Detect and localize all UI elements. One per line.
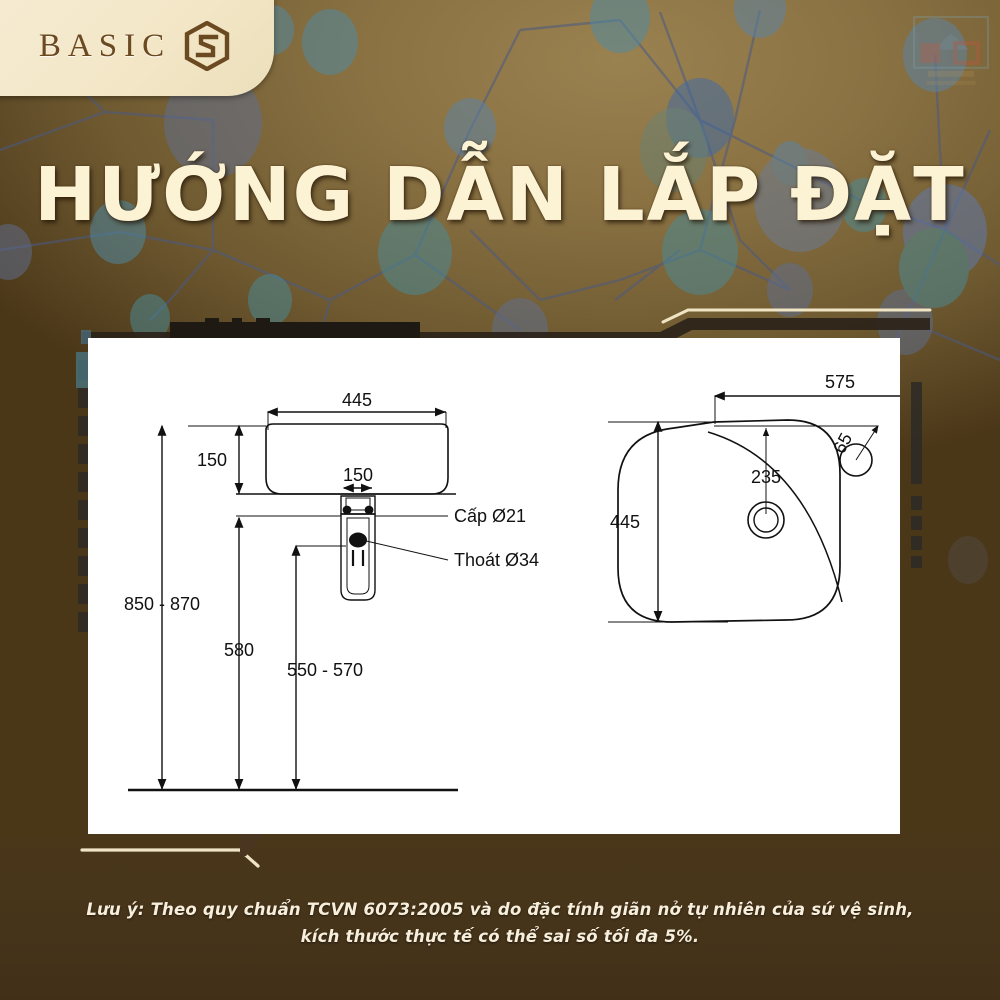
basic-s-hexagon-logo-icon xyxy=(183,21,231,71)
dim-trap-height-580: 580 xyxy=(224,640,254,660)
dim-overflow-offset-65: 65 xyxy=(829,430,856,457)
technical-drawing-panel: 445 150 150 850 - 870 580 550 - 570 Cấp … xyxy=(88,338,900,834)
label-supply-cap-21: Cấp Ø21 xyxy=(454,506,526,526)
dim-total-height-850-870: 850 - 870 xyxy=(124,594,200,614)
page-title: HƯỚNG DẪN LẮP ĐẶT xyxy=(0,152,1000,238)
technical-drawings-svg: 445 150 150 850 - 870 580 550 - 570 Cấp … xyxy=(88,338,900,834)
footer-note-line2: kích thước thực tế có thể sai số tối đa … xyxy=(0,923,1000,950)
dim-basin-height-150: 150 xyxy=(197,450,227,470)
brand-name: BASIC xyxy=(39,28,171,65)
dim-supply-height-550-570: 550 - 570 xyxy=(287,660,363,680)
company-logo-watermark-icon xyxy=(910,12,992,94)
dim-basin-width-445-top: 445 xyxy=(610,512,640,532)
footer-note: Lưu ý: Theo quy chuẩn TCVN 6073:2005 và … xyxy=(0,896,1000,950)
installation-guide-poster: BASIC HƯỚNG DẪN LẮP ĐẶT xyxy=(0,0,1000,1000)
footer-note-line1: Lưu ý: Theo quy chuẩn TCVN 6073:2005 và … xyxy=(0,896,1000,923)
dim-basin-width-445: 445 xyxy=(342,390,372,410)
dim-pipe-spacing-150: 150 xyxy=(343,465,373,485)
label-drain-thoat-34: Thoát Ø34 xyxy=(454,550,539,570)
brand-plate: BASIC xyxy=(0,0,274,96)
dim-drain-offset-235: 235 xyxy=(751,467,781,487)
dim-basin-depth-575: 575 xyxy=(825,372,855,392)
top-plan-group xyxy=(608,396,900,622)
